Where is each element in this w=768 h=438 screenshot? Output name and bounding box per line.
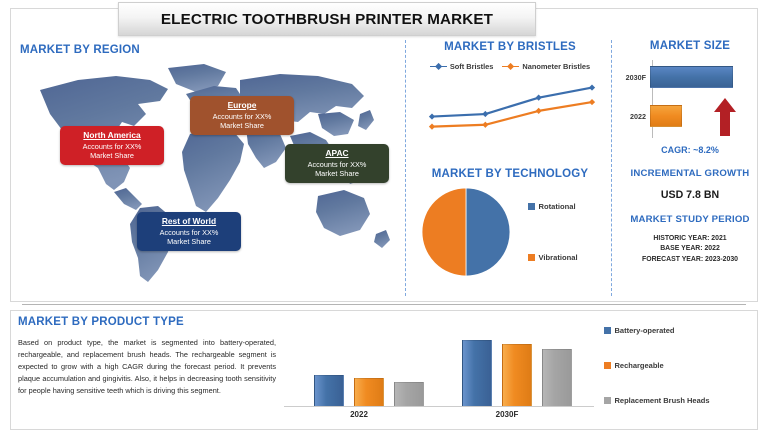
panel-market-by-product-type: MARKET BY PRODUCT TYPE Based on product … <box>18 316 276 397</box>
region-tag-north-america[interactable]: North America Accounts for XX% Market Sh… <box>60 126 164 165</box>
panel-market-by-region: MARKET BY REGION <box>12 40 402 296</box>
legend-item-rechargeable[interactable]: Rechargeable <box>604 361 760 370</box>
bristles-heading: MARKET BY BRISTLES <box>412 41 608 53</box>
technology-pie-chart <box>420 186 512 278</box>
legend-swatch-icon <box>528 203 535 210</box>
panel-market-size: MARKET SIZE 2030F 2022 CAGR: ~8.2% INCRE… <box>616 40 764 296</box>
product-type-bar-chart: 2022 2030F <box>280 322 598 426</box>
panel-market-by-technology: MARKET BY TECHNOLOGY Rotational Vibratio… <box>412 168 608 296</box>
region-tag-line2: Market Share <box>196 121 288 130</box>
legend-label: Rechargeable <box>615 361 664 370</box>
market-size-bar-chart: 2030F 2022 <box>616 58 764 144</box>
region-tag-name: Europe <box>196 100 288 111</box>
legend-label: Replacement Brush Heads <box>615 396 710 405</box>
page-title-ribbon: ELECTRIC TOOTHBRUSH PRINTER MARKET <box>118 2 536 36</box>
region-tag-line1: Accounts for XX% <box>291 160 383 169</box>
bar-replacement-heads-2022 <box>394 382 424 406</box>
bar-group-label-2022: 2022 <box>294 410 424 419</box>
legend-label: Rotational <box>539 202 576 211</box>
section-separator <box>22 304 746 305</box>
bristles-line-chart <box>412 74 608 148</box>
product-type-paragraph: Based on product type, the market is seg… <box>18 337 276 397</box>
market-study-period-values: HISTORIC YEAR: 2021 BASE YEAR: 2022 FORE… <box>616 234 764 265</box>
panel-market-by-bristles: MARKET BY BRISTLES Soft Bristles Nanomet… <box>412 40 608 162</box>
legend-swatch-icon <box>604 362 611 369</box>
legend-swatch-icon <box>604 327 611 334</box>
product-type-legend: Battery-operated Rechargeable Replacemen… <box>604 322 760 422</box>
divider-bristles-size <box>611 40 612 296</box>
legend-swatch-icon <box>528 254 535 261</box>
bar-battery-operated-2022 <box>314 375 344 406</box>
size-bar-row-2030f: 2030F <box>616 66 733 88</box>
region-tag-europe[interactable]: Europe Accounts for XX% Market Share <box>190 96 294 135</box>
bar-group-2022 <box>314 375 424 406</box>
technology-heading: MARKET BY TECHNOLOGY <box>412 168 608 180</box>
cagr-value: CAGR: ~8.2% <box>616 145 764 155</box>
bristles-legend: Soft Bristles Nanometer Bristles <box>412 62 608 71</box>
bar-battery-operated-2030f <box>462 340 492 406</box>
bar-replacement-heads-2030f <box>542 349 572 406</box>
size-bar-label: 2022 <box>616 112 650 121</box>
legend-label: Nanometer Bristles <box>522 62 590 71</box>
region-tag-line2: Market Share <box>66 151 158 160</box>
region-tag-line2: Market Share <box>143 237 235 246</box>
incremental-growth-heading: INCREMENTAL GROWTH <box>616 168 764 179</box>
region-tag-line2: Market Share <box>291 169 383 178</box>
arrow-up-icon <box>714 98 736 136</box>
page-title: ELECTRIC TOOTHBRUSH PRINTER MARKET <box>161 11 493 28</box>
legend-label: Soft Bristles <box>450 62 494 71</box>
size-bar-2022 <box>650 105 682 127</box>
region-tag-line1: Accounts for XX% <box>66 142 158 151</box>
region-tag-apac[interactable]: APAC Accounts for XX% Market Share <box>285 144 389 183</box>
region-tag-rest-of-world[interactable]: Rest of World Accounts for XX% Market Sh… <box>137 212 241 251</box>
infographic-root: ELECTRIC TOOTHBRUSH PRINTER MARKET MARKE… <box>0 0 768 438</box>
market-size-heading: MARKET SIZE <box>616 40 764 52</box>
bar-rechargeable-2030f <box>502 344 532 406</box>
legend-item-replacement-brush-heads[interactable]: Replacement Brush Heads <box>604 396 760 405</box>
incremental-growth-value: USD 7.8 BN <box>616 189 764 201</box>
divider-region-bristles <box>405 40 406 296</box>
legend-marker-icon <box>502 63 519 71</box>
legend-item-vibrational[interactable]: Vibrational <box>528 253 578 262</box>
region-tag-line1: Accounts for XX% <box>196 112 288 121</box>
base-year: BASE YEAR: 2022 <box>616 244 764 254</box>
size-bar-row-2022: 2022 <box>616 105 682 127</box>
legend-item-nanometer-bristles[interactable]: Nanometer Bristles <box>502 62 590 71</box>
region-tag-name: APAC <box>291 148 383 159</box>
region-heading: MARKET BY REGION <box>20 44 140 56</box>
region-tag-name: North America <box>66 130 158 141</box>
legend-label: Battery-operated <box>615 326 675 335</box>
size-bar-2030f <box>650 66 733 88</box>
region-tag-line1: Accounts for XX% <box>143 228 235 237</box>
bar-rechargeable-2022 <box>354 378 384 406</box>
region-tag-name: Rest of World <box>143 216 235 227</box>
legend-item-soft-bristles[interactable]: Soft Bristles <box>430 62 494 71</box>
legend-item-rotational[interactable]: Rotational <box>528 202 578 211</box>
size-bar-label: 2030F <box>616 73 650 82</box>
legend-label: Vibrational <box>539 253 578 262</box>
legend-item-battery-operated[interactable]: Battery-operated <box>604 326 760 335</box>
bar-group-2030f <box>462 340 572 406</box>
product-type-heading: MARKET BY PRODUCT TYPE <box>18 316 276 328</box>
legend-marker-icon <box>430 63 447 71</box>
forecast-year: FORECAST YEAR: 2023-2030 <box>616 255 764 265</box>
chart-baseline <box>284 406 594 407</box>
market-study-period-heading: MARKET STUDY PERIOD <box>616 214 764 225</box>
technology-legend: Rotational Vibrational <box>528 186 578 278</box>
legend-swatch-icon <box>604 397 611 404</box>
historic-year: HISTORIC YEAR: 2021 <box>616 234 764 244</box>
bar-group-label-2030f: 2030F <box>442 410 572 419</box>
